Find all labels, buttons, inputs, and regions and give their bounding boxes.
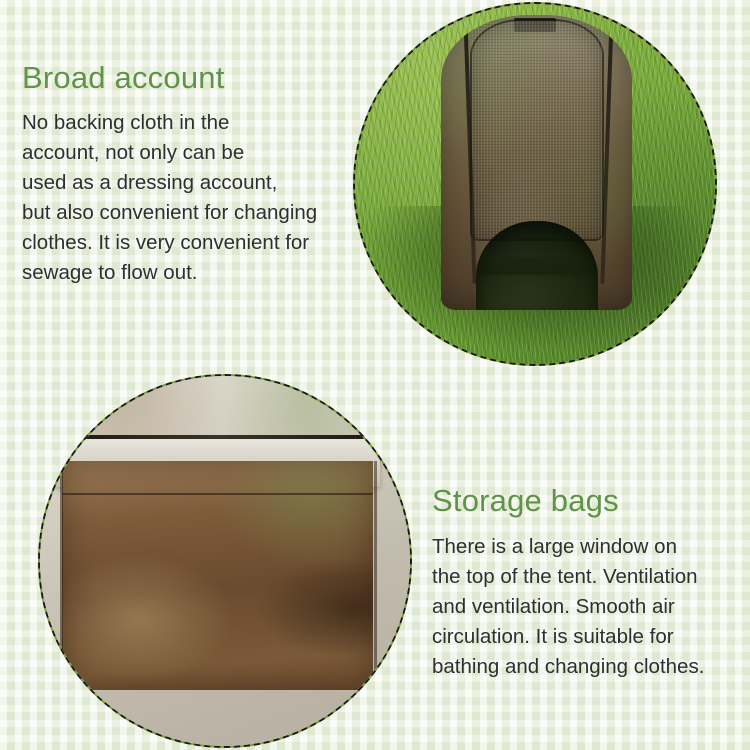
pocket-panel [62,461,373,690]
body-line: and ventilation. Smooth air [432,592,742,622]
body-line: used as a dressing account, [22,168,352,198]
body-line: bathing and changing clothes. [432,652,742,682]
pocket-camouflage-pattern [62,461,373,690]
body-line: the top of the tent. Ventilation [432,562,742,592]
section-body-storage-bags: There is a large window on the top of th… [432,532,742,682]
body-line: but also convenient for changing [22,198,352,228]
pocket-seam-top [62,493,373,495]
body-line: sewage to flow out. [22,258,352,288]
body-line: clothes. It is very convenient for [22,228,352,258]
section-title-broad-account: Broad account [22,60,225,96]
body-line: account, not only can be [22,138,352,168]
body-line: No backing cloth in the [22,108,352,138]
tent-body [441,15,632,310]
body-line: circulation. It is suitable for [432,622,742,652]
tent-scene [355,4,715,364]
section-body-broad-account: No backing cloth in the account, not onl… [22,108,352,288]
infographic-page: Broad account No backing cloth in the ac… [0,0,750,750]
section-title-storage-bags: Storage bags [432,483,619,519]
mesh-texture [472,21,602,239]
tent-mesh-window [472,21,602,239]
pocket-edge-left [60,461,63,690]
pocket-scene [40,376,410,746]
body-line: There is a large window on [432,532,742,562]
storage-pocket-photo [38,374,412,748]
pocket-edge-right [374,461,377,690]
camouflage-tent-photo [353,2,717,366]
